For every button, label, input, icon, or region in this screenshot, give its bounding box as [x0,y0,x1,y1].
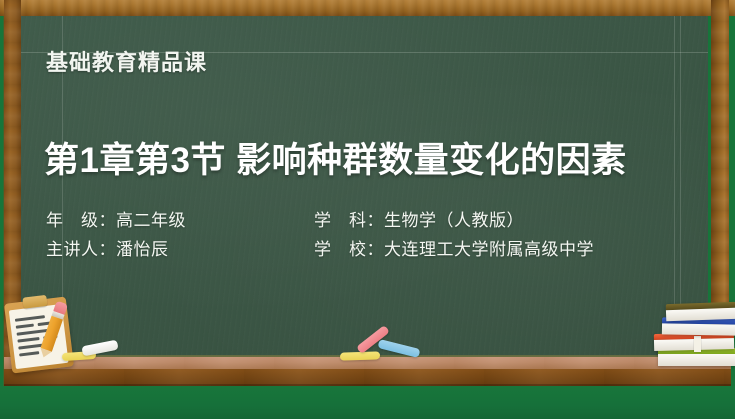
book-bookmark [694,336,701,352]
slide-info-block: 年 级： 高二年级 学 科： 生物学（人教版） 主讲人： 潘怡辰 学 校： 大连… [46,206,594,264]
book-pages [658,354,735,366]
clipboard-text-line [17,337,39,343]
info-value-school: 大连理工大学附属高级中学 [384,235,594,260]
book-brown [666,302,735,321]
info-cell-presenter: 主讲人： 潘怡辰 [46,235,314,260]
slide-main-title: 第1章第3节 影响种群数量变化的因素 [44,132,627,183]
info-value-grade: 高二年级 [116,206,186,231]
chalk-yellow-center-icon [340,351,380,360]
presentation-slide: 基础教育精品课 第1章第3节 影响种群数量变化的因素 年 级： 高二年级 学 科… [0,0,735,419]
info-value-subject: 生物学（人教版） [384,206,524,231]
clipboard-text-line [15,315,45,322]
info-value-presenter: 潘怡辰 [116,235,169,260]
clipboard-text-line [19,351,39,356]
info-cell-subject: 学 科： 生物学（人教版） [314,206,524,231]
info-label-presenter: 主讲人： [46,235,116,260]
info-label-school: 学 校： [314,235,384,260]
slide-eyebrow-label: 基础教育精品课 [46,45,207,77]
info-row: 主讲人： 潘怡辰 学 校： 大连理工大学附属高级中学 [46,235,594,264]
clipboard-text-line [16,324,34,329]
book-pages [662,323,735,335]
book-stack-icon [654,302,735,368]
chalkboard-frame-top [0,0,735,16]
info-label-subject: 学 科： [314,206,384,231]
floor-band [0,386,735,419]
info-label-grade: 年 级： [46,206,116,231]
info-row: 年 级： 高二年级 学 科： 生物学（人教版） [46,206,594,235]
info-cell-grade: 年 级： 高二年级 [46,206,314,231]
info-cell-school: 学 校： 大连理工大学附属高级中学 [314,235,594,260]
